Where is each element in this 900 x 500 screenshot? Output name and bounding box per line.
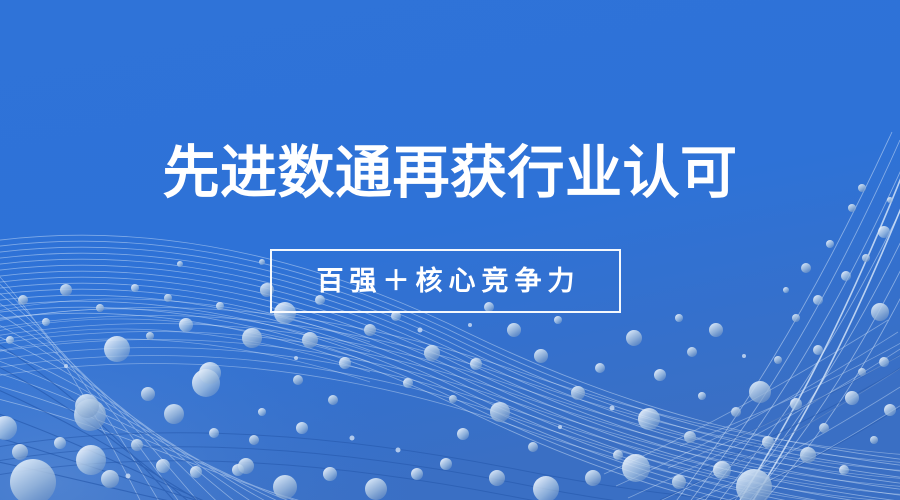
banner-content: 先进数通再获行业认可 百强＋核心竞争力 (0, 0, 900, 500)
promo-banner: 先进数通再获行业认可 百强＋核心竞争力 (0, 0, 900, 500)
page-title: 先进数通再获行业认可 (0, 140, 900, 208)
subtitle-text: 百强＋核心竞争力 (311, 266, 581, 296)
subtitle-badge: 百强＋核心竞争力 (270, 249, 621, 313)
